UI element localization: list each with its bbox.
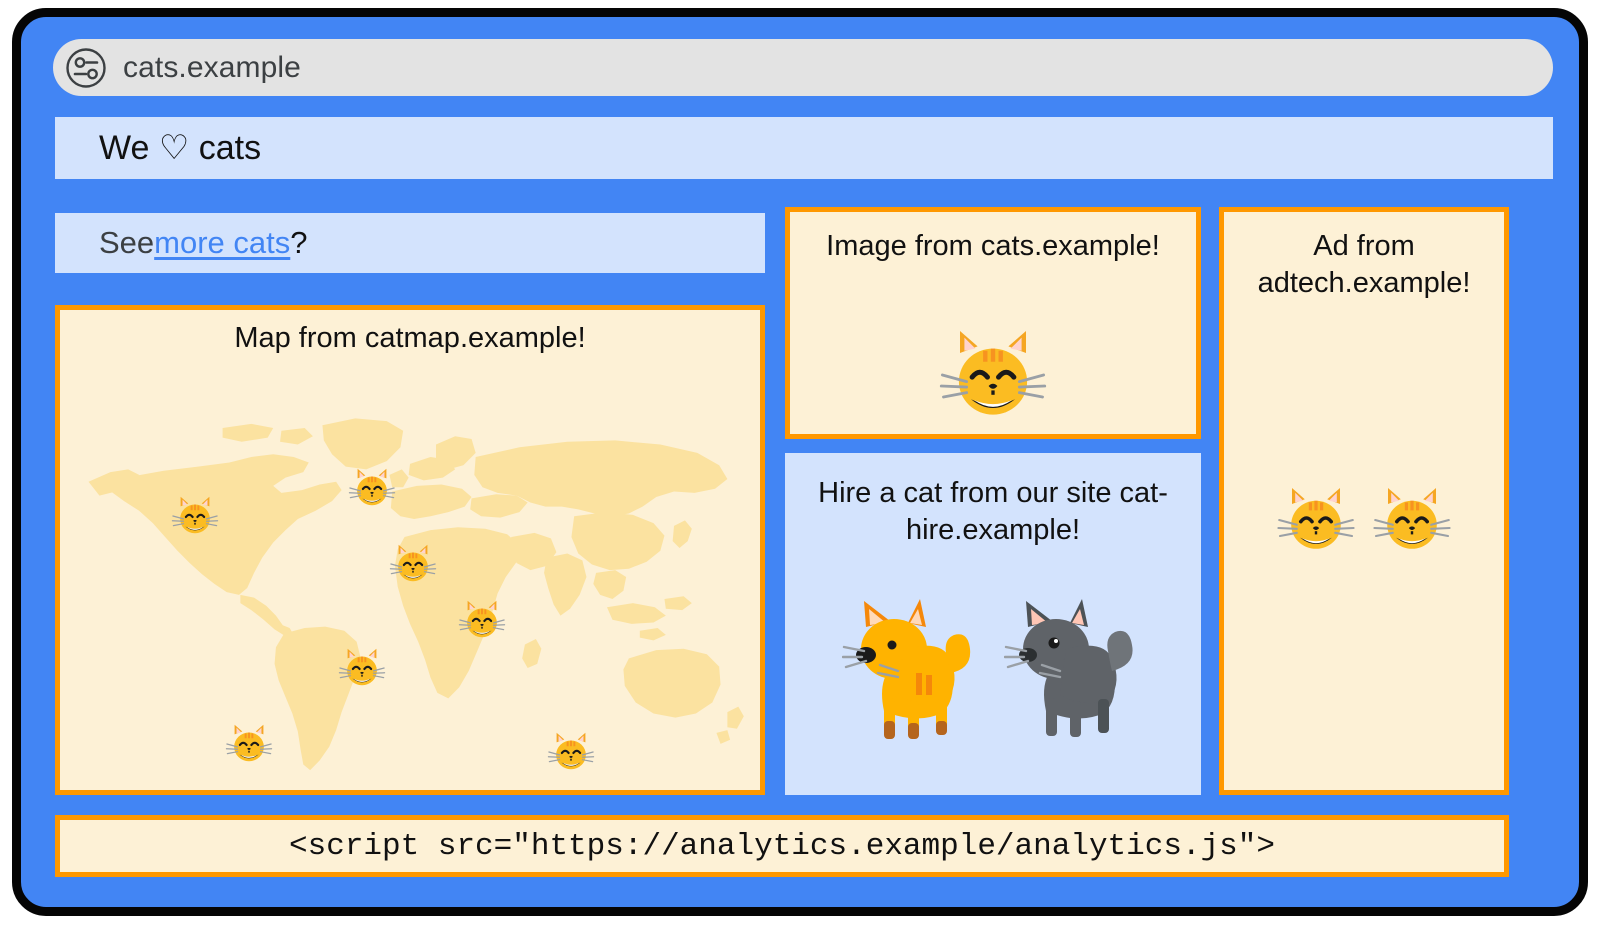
grinning-cat-face-icon [171,492,219,540]
image-panel[interactable]: Image from cats.example! [785,207,1201,439]
ad-panel-cats [1224,480,1504,560]
marker-south-asia[interactable] [458,596,506,644]
world-map[interactable] [68,388,752,788]
script-tag-code: <script src="https://analytics.example/a… [289,829,1275,864]
link-banner: See more cats? [55,213,765,273]
marker-australia[interactable] [547,728,595,776]
grinning-cat-face-icon [938,320,1048,430]
grinning-cat-face-icon [225,720,273,768]
browser-window: cats.example We ♡ cats See more cats? Ma… [12,8,1588,916]
hire-panel-title: Hire a cat from our site cat-hire.exampl… [785,475,1201,548]
hire-panel-cats [785,593,1201,753]
url-text[interactable]: cats.example [123,51,301,85]
headline-banner: We ♡ cats [55,117,1553,179]
orange-cat-icon [842,593,982,753]
marker-north-america[interactable] [171,492,219,540]
gray-cat-icon [1004,593,1144,753]
grinning-cat-face-icon [458,596,506,644]
grinning-cat-face-icon [338,644,386,692]
ad-panel[interactable]: Ad from adtech.example! [1219,207,1509,795]
image-panel-title: Image from cats.example! [790,228,1196,265]
url-bar[interactable]: cats.example [53,39,1553,96]
script-bar: <script src="https://analytics.example/a… [55,815,1509,877]
marker-africa[interactable] [338,644,386,692]
headline-text: We ♡ cats [99,128,261,168]
grinning-cat-face-icon [348,464,396,512]
hire-panel[interactable]: Hire a cat from our site cat-hire.exampl… [785,453,1201,795]
link-prefix: See [99,225,154,261]
grinning-cat-face-icon [389,540,437,588]
grinning-cat-face-icon [1372,480,1452,560]
marker-northern-europe[interactable] [348,464,396,512]
marker-central-europe[interactable] [389,540,437,588]
map-panel-title: Map from catmap.example! [60,322,760,355]
more-cats-link[interactable]: more cats [154,225,290,261]
grinning-cat-face-icon [1276,480,1356,560]
marker-south-america[interactable] [225,720,273,768]
link-suffix: ? [290,225,307,261]
ad-panel-title: Ad from adtech.example! [1224,228,1504,301]
grinning-cat-face-icon [547,728,595,776]
map-panel[interactable]: Map from catmap.example! [55,305,765,795]
tune-sliders-icon[interactable] [65,47,107,89]
